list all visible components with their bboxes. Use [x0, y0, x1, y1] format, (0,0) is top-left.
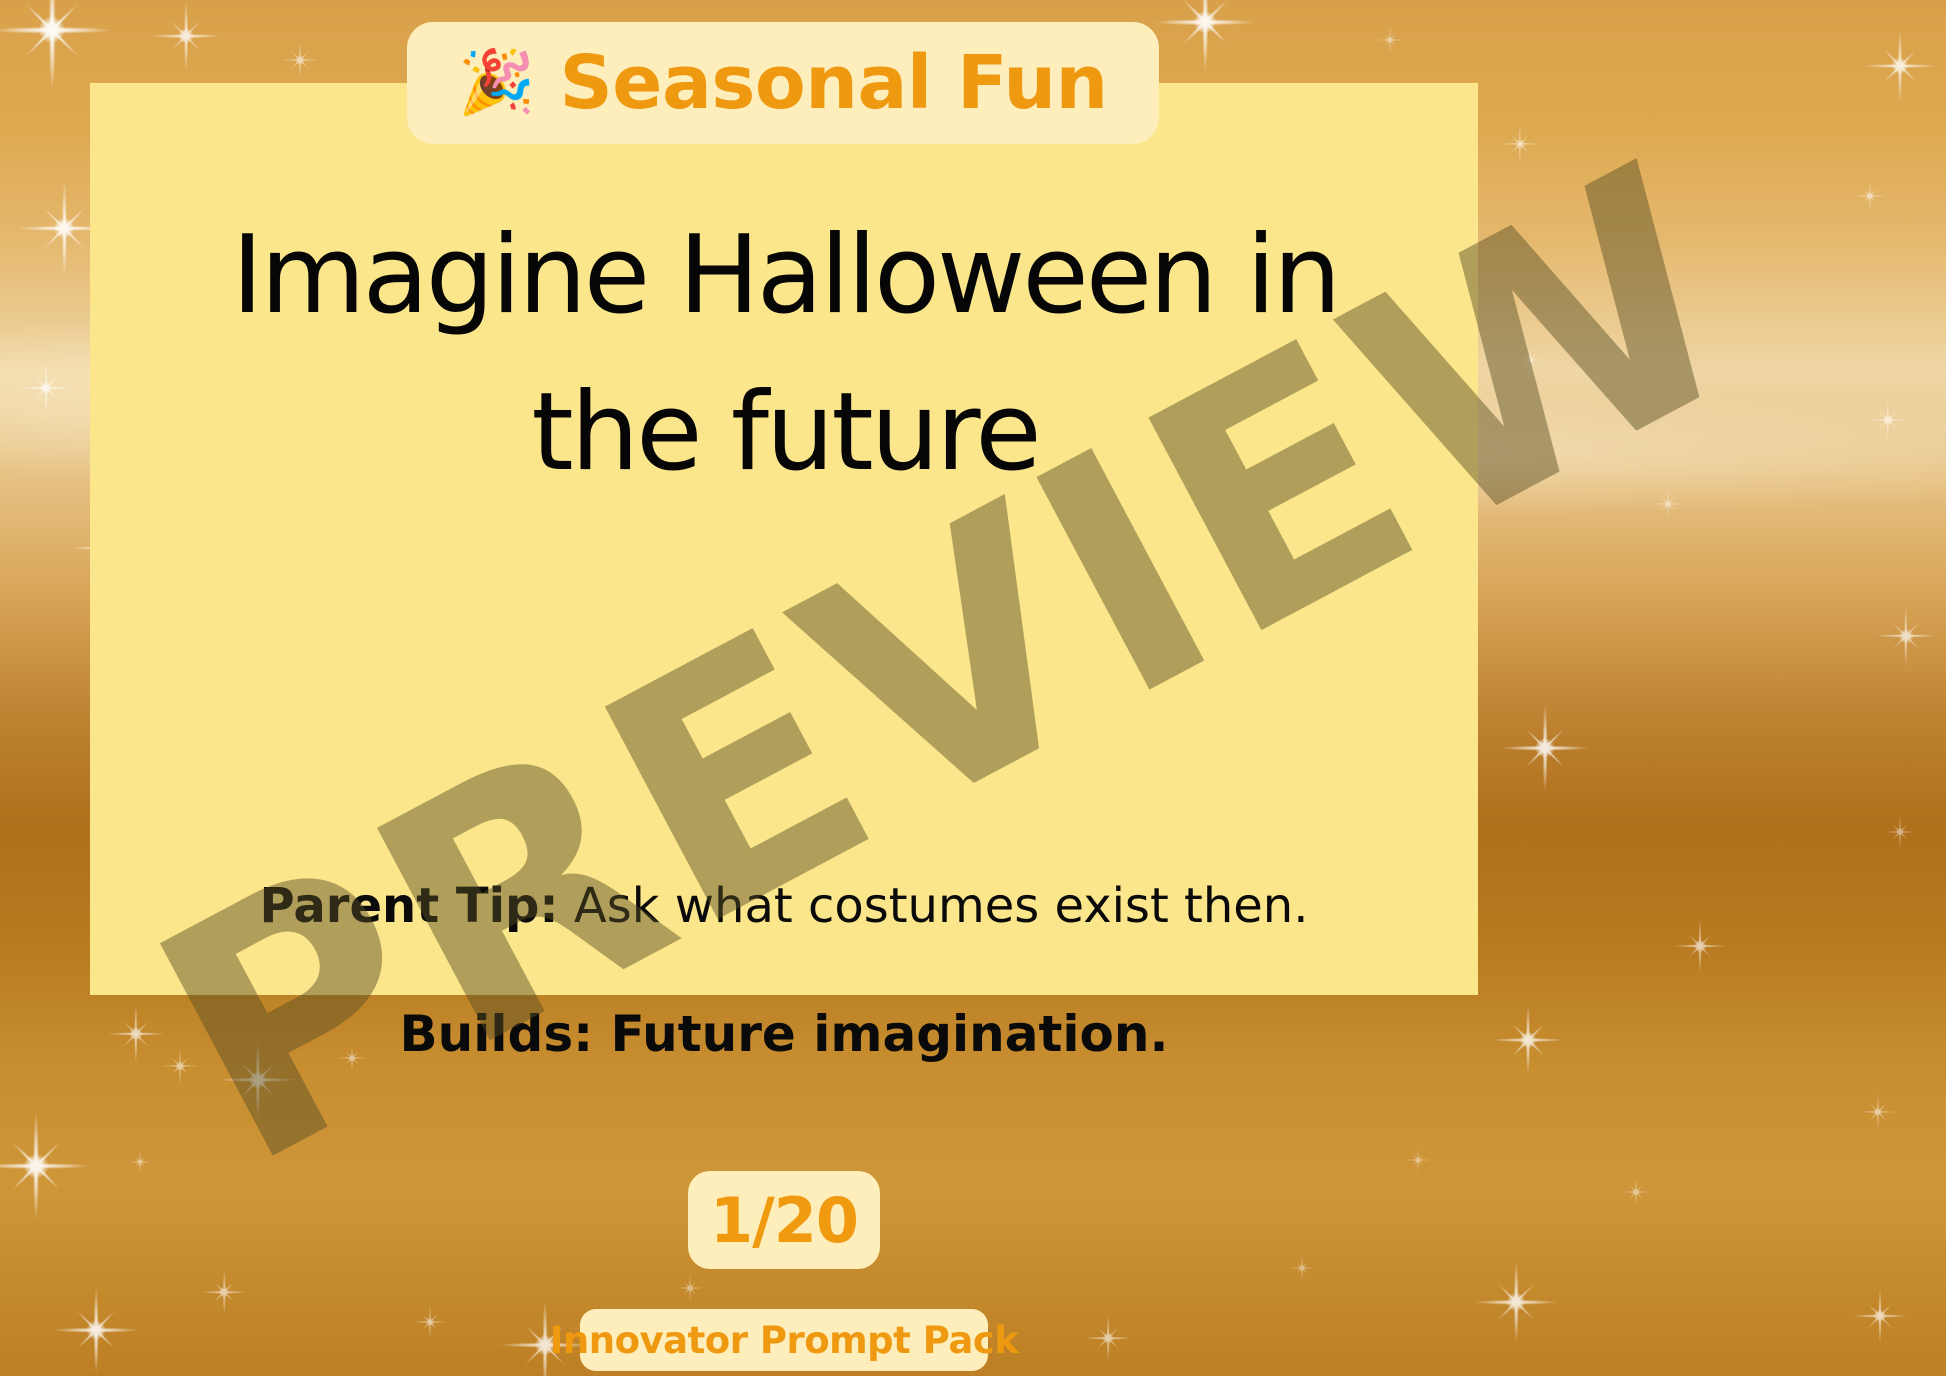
category-badge-label: Seasonal Fun: [559, 40, 1107, 126]
poster-canvas: 🎉 Seasonal Fun Imagine Halloween in the …: [0, 0, 1946, 1376]
pack-name-label: Innovator Prompt Pack: [550, 1319, 1019, 1362]
builds-line: Builds: Future imagination.: [90, 1005, 1478, 1063]
pack-name-badge[interactable]: Innovator Prompt Pack: [580, 1309, 988, 1371]
parent-tip-label: Parent Tip:: [260, 878, 559, 934]
parent-tip-text: Ask what costumes exist then.: [559, 878, 1309, 934]
page-counter-label: 1/20: [710, 1184, 858, 1257]
page-title: Imagine Halloween in the future: [150, 198, 1420, 511]
category-badge[interactable]: 🎉 Seasonal Fun: [407, 22, 1159, 144]
page-counter-badge[interactable]: 1/20: [688, 1171, 880, 1269]
party-popper-icon: 🎉: [458, 52, 535, 114]
parent-tip-line: Parent Tip: Ask what costumes exist then…: [90, 878, 1478, 934]
